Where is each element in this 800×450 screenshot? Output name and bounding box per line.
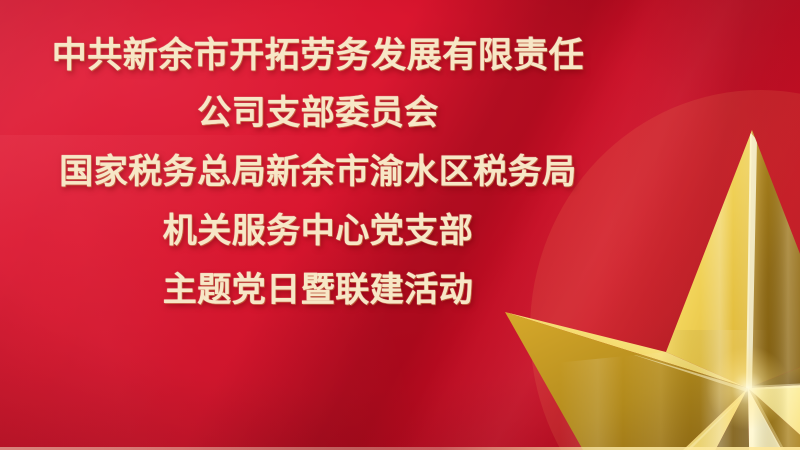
headline-block: 中共新余市开拓劳务发展有限责任 公司支部委员会 国家税务总局新余市渝水区税务局 … <box>0 38 636 307</box>
headline-line-1: 中共新余市开拓劳务发展有限责任 <box>0 38 636 73</box>
headline-line-2: 公司支部委员会 <box>0 96 636 130</box>
headline-line-4: 机关服务中心党支部 <box>0 214 636 248</box>
headline-line-3: 国家税务总局新余市渝水区税务局 <box>0 155 636 189</box>
banner-canvas: 中共新余市开拓劳务发展有限责任 公司支部委员会 国家税务总局新余市渝水区税务局 … <box>0 0 800 450</box>
headline-line-5: 主题党日暨联建活动 <box>0 273 636 307</box>
